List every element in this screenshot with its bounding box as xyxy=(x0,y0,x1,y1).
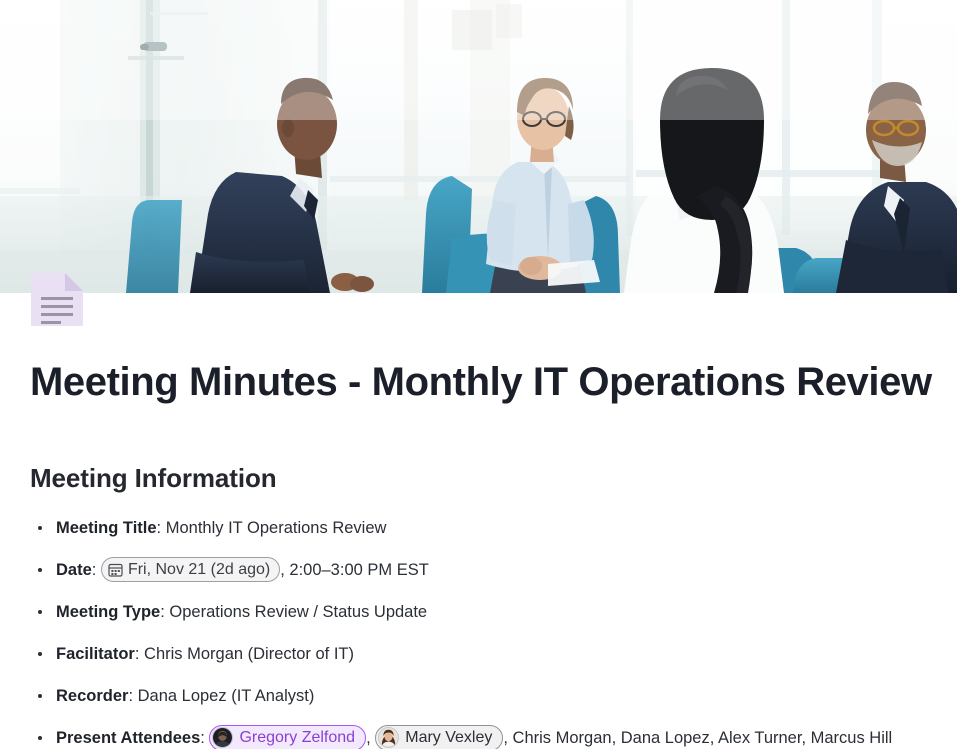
field-value: Monthly IT Operations Review xyxy=(166,519,387,537)
field-label: Facilitator xyxy=(56,645,135,663)
banner-illustration xyxy=(0,0,957,293)
field-label: Present Attendees xyxy=(56,729,200,747)
field-separator: : xyxy=(135,645,144,663)
mention-label: Mary Vexley xyxy=(405,727,492,749)
field-label: Recorder xyxy=(56,687,128,705)
section-heading-meeting-information: Meeting Information xyxy=(30,405,927,494)
document-body: Meeting Minutes - Monthly IT Operations … xyxy=(0,293,957,749)
date-chip[interactable]: Fri, Nov 21 (2d ago) xyxy=(101,557,280,582)
mention-separator: , xyxy=(366,729,375,747)
list-item-facilitator: Facilitator: Chris Morgan (Director of I… xyxy=(30,638,927,670)
field-label: Meeting Type xyxy=(56,603,160,621)
field-value: Chris Morgan (Director of IT) xyxy=(144,645,354,663)
field-value: Operations Review / Status Update xyxy=(169,603,427,621)
gregory-avatar xyxy=(212,727,233,748)
meeting-photo-banner xyxy=(0,0,957,293)
document-file-icon xyxy=(29,271,85,328)
field-separator: : xyxy=(157,519,166,537)
list-item-date: Date: Fri, Nov 21 (2d ago), 2:00–3:00 PM… xyxy=(30,554,927,586)
field-separator: : xyxy=(160,603,169,621)
calendar-icon xyxy=(108,562,123,577)
list-item-meeting-title: Meeting Title: Monthly IT Operations Rev… xyxy=(30,512,927,544)
mary-avatar xyxy=(378,727,399,748)
page-title: Meeting Minutes - Monthly IT Operations … xyxy=(30,293,927,405)
mention-chip-gregory-zelfond[interactable]: Gregory Zelfond xyxy=(209,725,366,749)
list-item-recorder: Recorder: Dana Lopez (IT Analyst) xyxy=(30,680,927,712)
meeting-information-list: Meeting Title: Monthly IT Operations Rev… xyxy=(30,512,927,749)
field-separator: : xyxy=(92,561,101,579)
field-separator: : xyxy=(200,729,209,747)
field-label: Meeting Title xyxy=(56,519,157,537)
date-chip-label: Fri, Nov 21 (2d ago) xyxy=(128,559,270,581)
list-item-meeting-type: Meeting Type: Operations Review / Status… xyxy=(30,596,927,628)
list-item-present-attendees: Present Attendees: Gregory Zelfond, Mary… xyxy=(30,722,927,749)
date-trailing-text: , 2:00–3:00 PM EST xyxy=(280,561,429,579)
field-separator: : xyxy=(128,687,137,705)
mention-label: Gregory Zelfond xyxy=(239,727,355,749)
field-label: Date xyxy=(56,561,92,579)
field-value: Dana Lopez (IT Analyst) xyxy=(138,687,315,705)
present-plain-text: , Chris Morgan, Dana Lopez, Alex Turner,… xyxy=(503,729,892,747)
mention-chip-mary-vexley[interactable]: Mary Vexley xyxy=(375,725,503,749)
